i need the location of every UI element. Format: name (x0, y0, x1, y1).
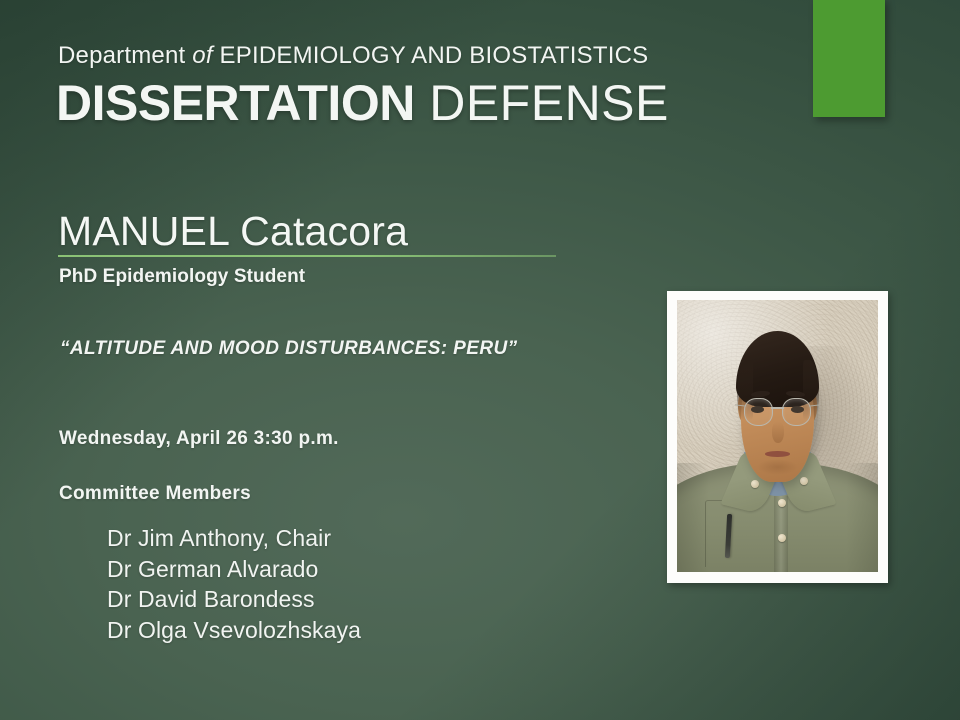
photo-shirt-button (778, 499, 786, 507)
list-item: Dr David Barondess (107, 584, 361, 615)
dissertation-defense-slide: Department of EPIDEMIOLOGY AND BIOSTATIS… (0, 0, 960, 720)
green-accent-block (813, 0, 885, 117)
committee-heading: Committee Members (59, 483, 251, 505)
page-title-strong: DISSERTATION (56, 75, 415, 131)
page-title: DISSERTATION DEFENSE (56, 76, 669, 130)
dissertation-title: “ALTITUDE AND MOOD DISTURBANCES: PERU” (60, 338, 517, 360)
list-item: Dr Jim Anthony, Chair (107, 523, 361, 554)
photo-eyeglass-bridge (771, 407, 783, 408)
name-divider-rule (58, 255, 556, 257)
photo-chin-shadow (757, 459, 797, 475)
list-item: Dr German Alvarado (107, 554, 361, 585)
photo-eyeglass-lens-left (744, 398, 773, 426)
presenter-role: PhD Epidemiology Student (59, 266, 305, 288)
photo-shirt-button (778, 534, 786, 542)
page-title-light: DEFENSE (415, 75, 669, 131)
photo-shirt-shadow-right (846, 463, 878, 572)
portrait-photo-frame (667, 291, 888, 583)
committee-members-list: Dr Jim Anthony, Chair Dr German Alvarado… (107, 523, 361, 645)
photo-eyeglass-lens-right (782, 398, 811, 426)
department-prefix: Department (58, 42, 192, 69)
department-line: Department of EPIDEMIOLOGY AND BIOSTATIS… (58, 42, 648, 70)
photo-mouth (765, 451, 789, 457)
event-datetime: Wednesday, April 26 3:30 p.m. (59, 428, 339, 450)
photo-nose (772, 422, 783, 442)
portrait-photo (677, 300, 878, 572)
department-of-italic: of (192, 42, 212, 69)
list-item: Dr Olga Vsevolozhskaya (107, 615, 361, 646)
presenter-name: MANUEL Catacora (58, 208, 408, 255)
department-suffix: EPIDEMIOLOGY AND BIOSTATISTICS (213, 42, 649, 69)
photo-collar-button (800, 477, 808, 485)
